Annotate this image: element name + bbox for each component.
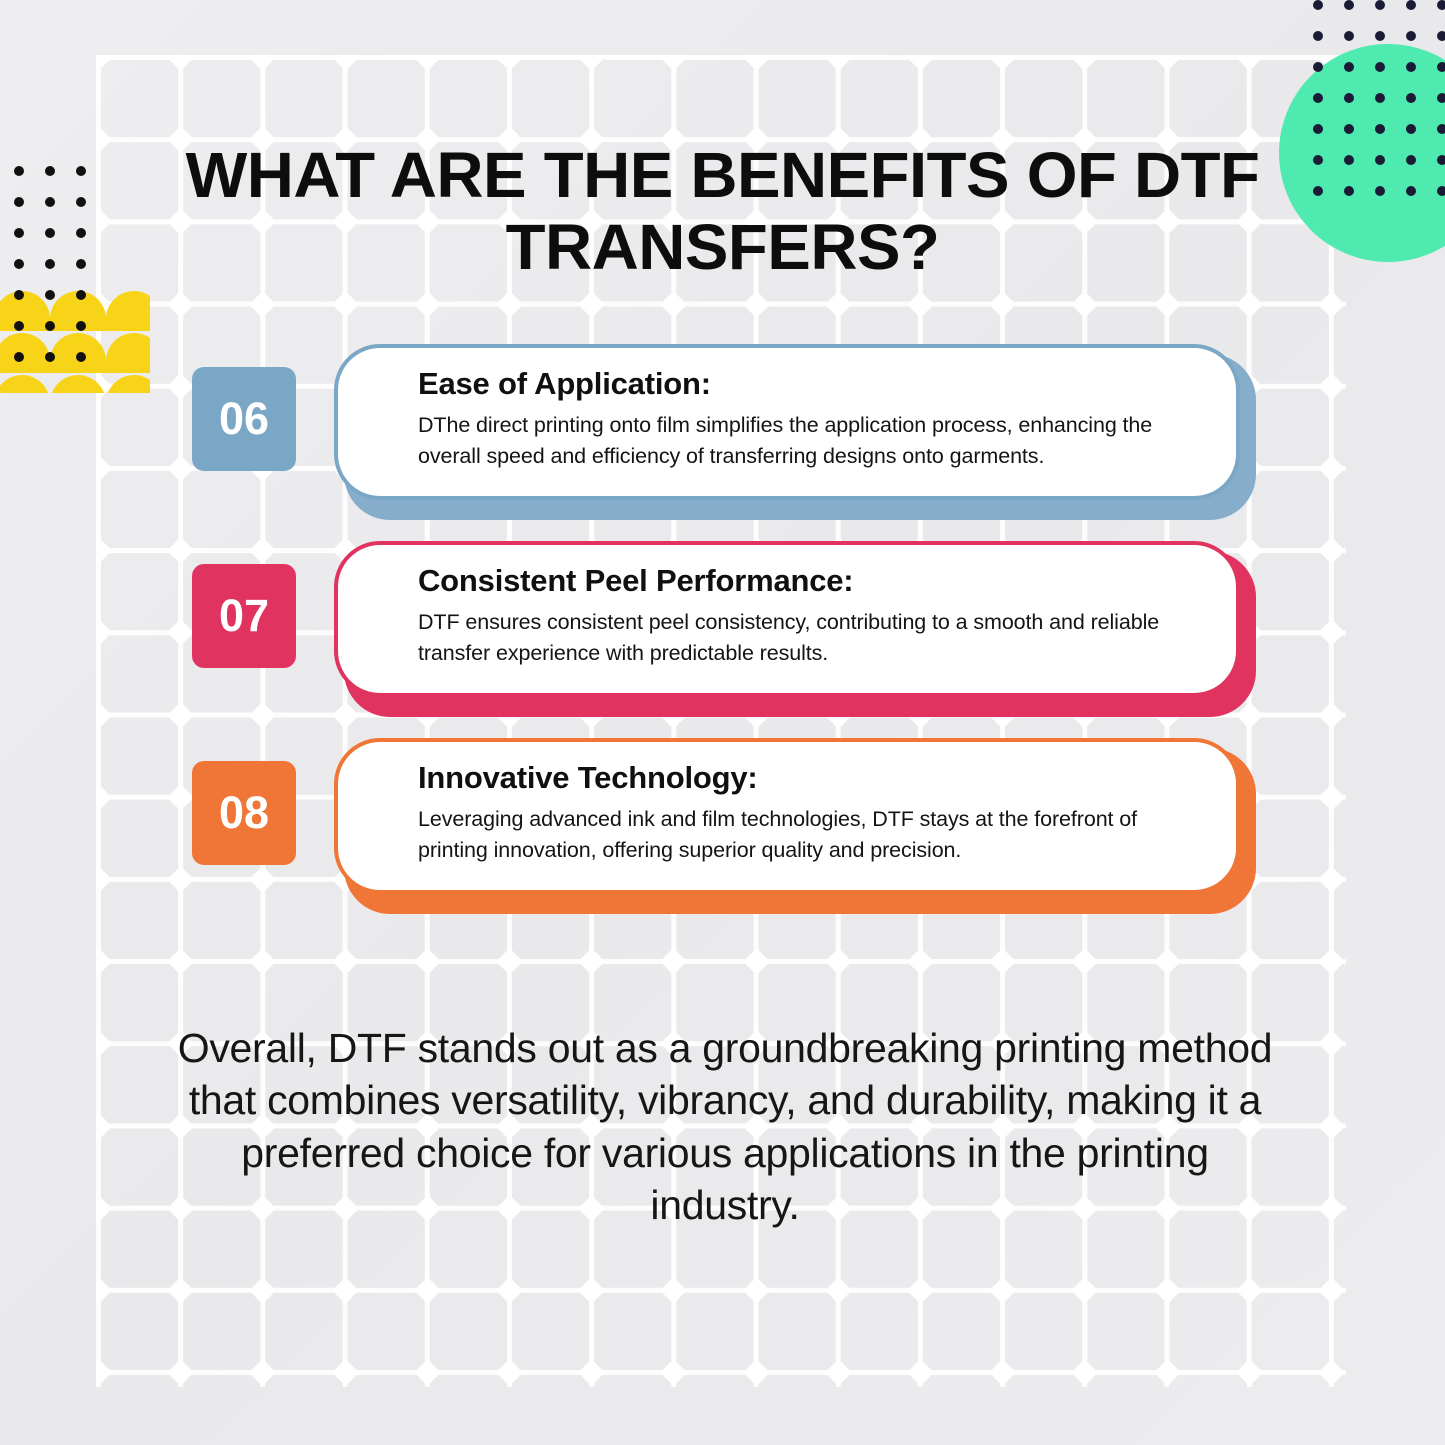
card-title: Consistent Peel Performance: [418, 564, 1202, 598]
card-number-label: 08 [219, 787, 269, 839]
card-number-label: 06 [219, 393, 269, 445]
card-title: Ease of Application: [418, 367, 1202, 401]
card-body-text: Leveraging advanced ink and film technol… [418, 804, 1202, 865]
card-panel[interactable]: Innovative Technology: Leveraging advanc… [334, 738, 1240, 894]
summary-paragraph: Overall, DTF stands out as a groundbreak… [170, 1022, 1280, 1232]
card-title: Innovative Technology: [418, 761, 1202, 795]
card-number-badge: 06 [192, 367, 296, 471]
navy-dot-grid-decoration [1295, 0, 1445, 222]
page-title: WHAT ARE THE BENEFITS OF DTF TRANSFERS? [139, 140, 1307, 283]
benefit-card-06: 06 Ease of Application: DThe direct prin… [0, 340, 1445, 537]
benefit-card-08: 08 Innovative Technology: Leveraging adv… [0, 734, 1445, 931]
card-body-text: DThe direct printing onto film simplifie… [418, 410, 1202, 471]
card-panel[interactable]: Ease of Application: DThe direct printin… [334, 344, 1240, 500]
card-number-label: 07 [219, 590, 269, 642]
card-body-text: DTF ensures consistent peel consistency,… [418, 607, 1202, 668]
card-panel[interactable]: Consistent Peel Performance: DTF ensures… [334, 541, 1240, 697]
benefit-card-list: 06 Ease of Application: DThe direct prin… [0, 340, 1445, 931]
black-dot-grid-decoration [0, 160, 100, 390]
infographic-canvas: WHAT ARE THE BENEFITS OF DTF TRANSFERS? … [0, 0, 1445, 1445]
card-number-badge: 08 [192, 761, 296, 865]
benefit-card-07: 07 Consistent Peel Performance: DTF ensu… [0, 537, 1445, 734]
card-number-badge: 07 [192, 564, 296, 668]
